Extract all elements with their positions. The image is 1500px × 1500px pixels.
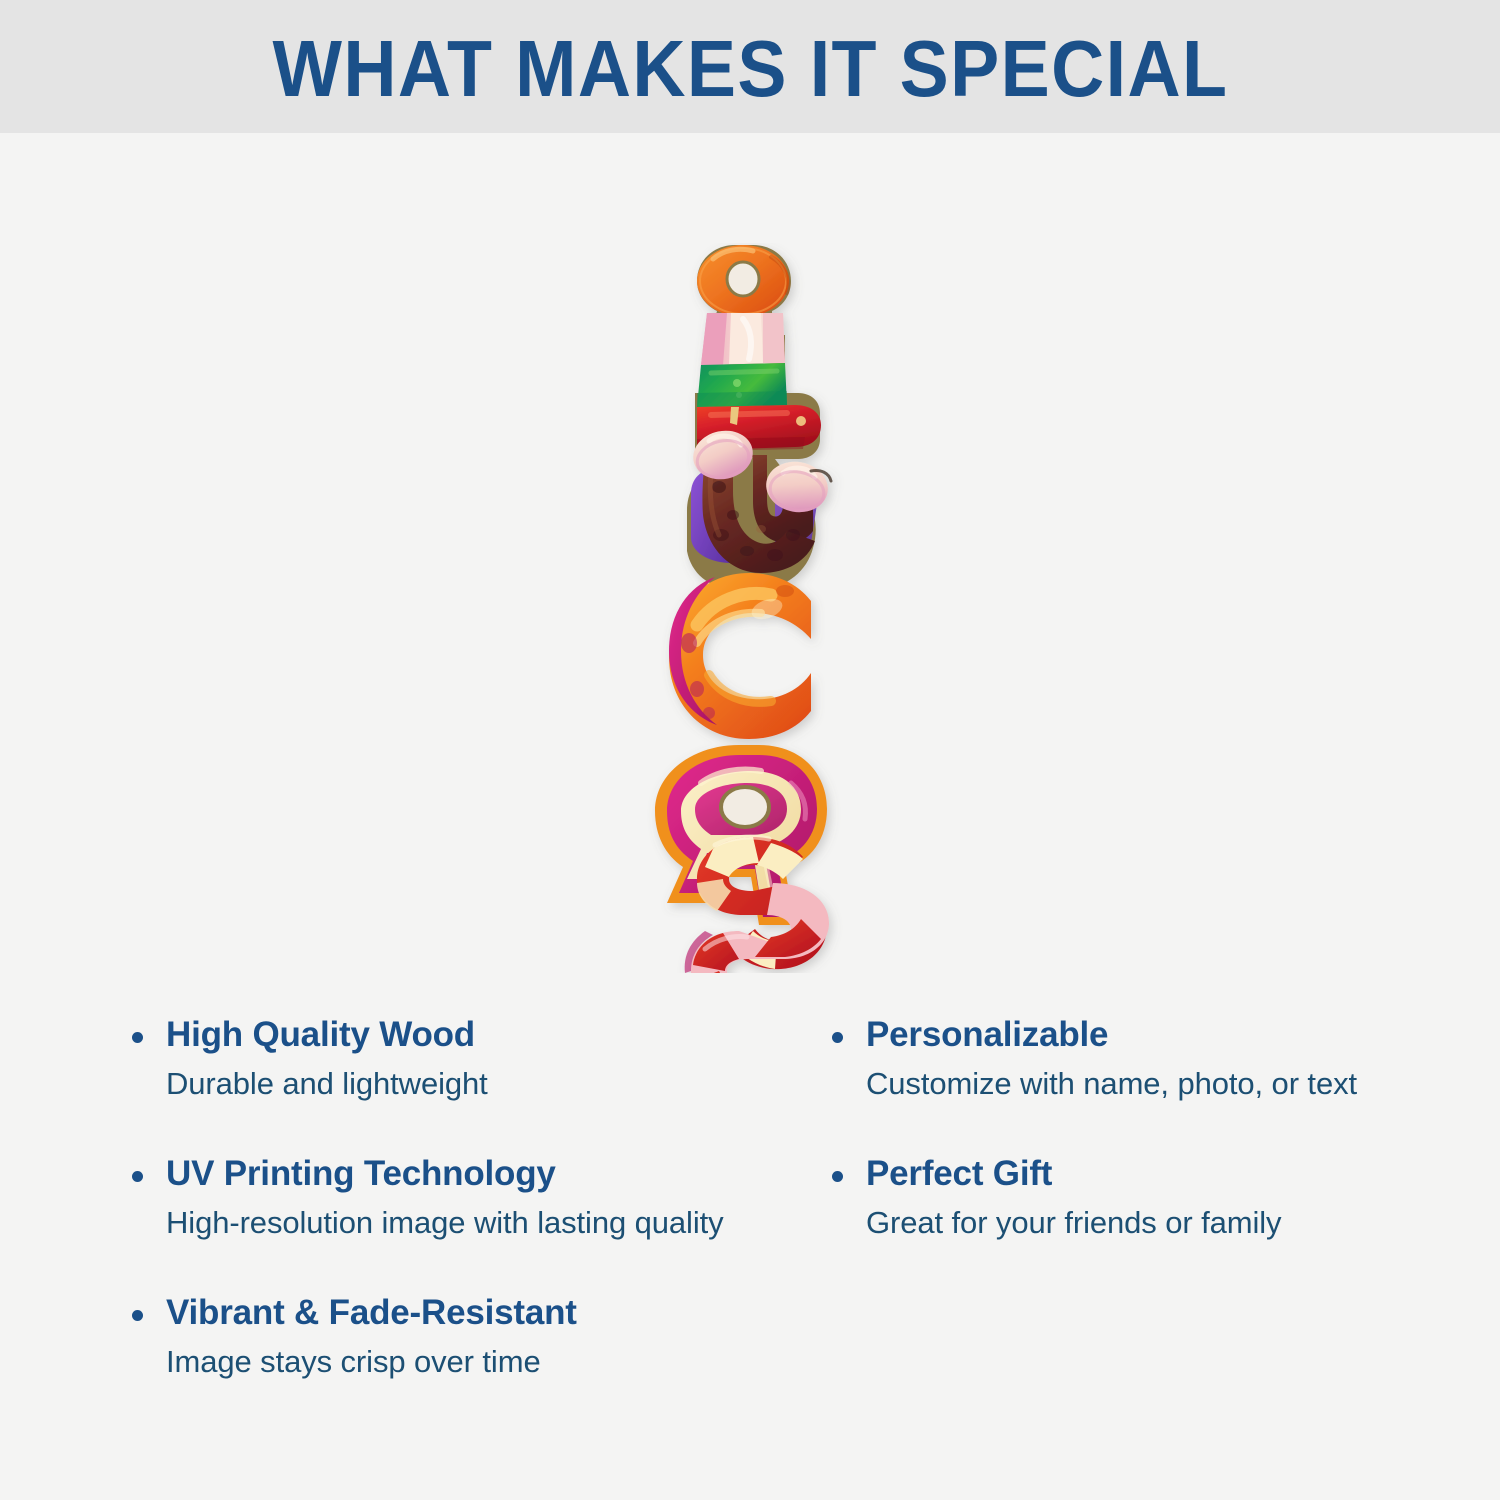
feature-title: Vibrant & Fade-Resistant	[166, 1291, 788, 1335]
features-section: High Quality Wood Durable and lightweigh…	[0, 1013, 1500, 1433]
feature-title: High Quality Wood	[166, 1013, 788, 1057]
feature-description: Image stays crisp over time	[166, 1342, 788, 1382]
orange-croissant-curve	[669, 573, 811, 739]
feature-description: Durable and lightweight	[166, 1064, 788, 1104]
feature-title: Personalizable	[866, 1013, 1448, 1057]
pink-cream-candy-block	[701, 313, 785, 365]
features-left-column: High Quality Wood Durable and lightweigh…	[128, 1013, 788, 1430]
feature-item-uv-printing-technology: UV Printing Technology High-resolution i…	[128, 1152, 788, 1243]
feature-title: UV Printing Technology	[166, 1152, 788, 1196]
features-right-column: Personalizable Customize with name, phot…	[828, 1013, 1448, 1291]
feature-item-personalizable: Personalizable Customize with name, phot…	[828, 1013, 1448, 1104]
page-title: WHAT MAKES IT SPECIAL	[272, 29, 1228, 109]
candy-cane-letter-s	[685, 837, 829, 973]
feature-description: Customize with name, photo, or text	[866, 1064, 1448, 1104]
product-image-area	[0, 133, 1500, 1013]
feature-description: Great for your friends or family	[866, 1203, 1448, 1243]
feature-item-perfect-gift: Perfect Gift Great for your friends or f…	[828, 1152, 1448, 1243]
feature-description: High-resolution image with lasting quali…	[166, 1203, 788, 1243]
header-band: WHAT MAKES IT SPECIAL	[0, 0, 1500, 133]
feature-item-high-quality-wood: High Quality Wood Durable and lightweigh…	[128, 1013, 788, 1104]
bullet-icon	[832, 1032, 843, 1043]
bullet-icon	[132, 1310, 143, 1321]
feature-title: Perfect Gift	[866, 1152, 1448, 1196]
product-ornament-image	[635, 243, 865, 973]
candy-lettering-ornament-graphic	[635, 243, 865, 973]
bullet-icon	[132, 1032, 143, 1043]
hanging-hole-ring	[697, 245, 789, 317]
green-band	[697, 363, 787, 407]
bullet-icon	[132, 1171, 143, 1182]
feature-item-vibrant-fade-resistant: Vibrant & Fade-Resistant Image stays cri…	[128, 1291, 788, 1382]
bullet-icon	[832, 1171, 843, 1182]
